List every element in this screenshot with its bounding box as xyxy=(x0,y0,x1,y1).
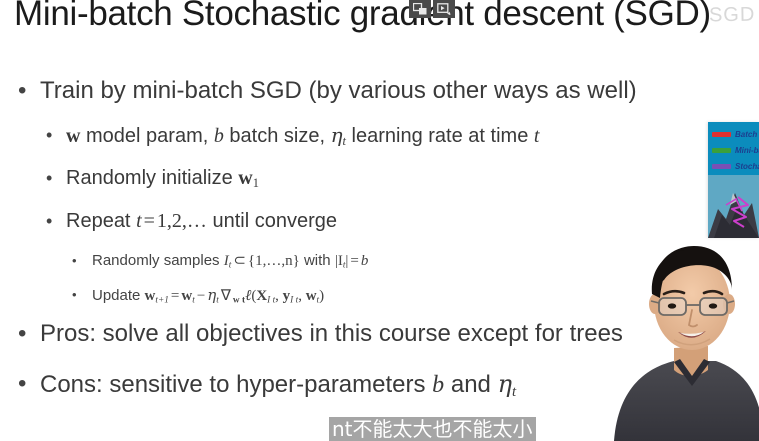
math-eta: η xyxy=(207,286,216,304)
math-paren-close: ) xyxy=(319,288,324,304)
math-sequence: 1,2,… xyxy=(157,210,207,232)
bullet-math-content: Randomly samples It⊂{1,…,n} with |It|=b xyxy=(92,252,368,269)
math-text: Randomly initialize xyxy=(66,167,238,189)
math-sub-I-t: I t xyxy=(267,295,275,305)
math-text: Update xyxy=(92,287,145,304)
math-sub-t: t xyxy=(512,384,516,400)
bullet-math-content: Randomly initialize w1 xyxy=(66,167,259,189)
legend-swatch-stochastic xyxy=(712,164,731,169)
gradient-descent-comparison-figure: Batch Mini-batch Stochastic xyxy=(708,122,759,238)
math-w: w xyxy=(66,125,80,147)
bullet-math-content: Update wt+1=wt−ηt∇w tℓ(XI t, yI t, wt) xyxy=(92,287,324,304)
math-sub-I-t: I t xyxy=(290,295,298,305)
player-overlay-toolbar[interactable] xyxy=(409,0,455,18)
legend-swatch-mini-batch xyxy=(712,148,731,153)
math-w: w xyxy=(145,288,156,304)
math-text: model param, xyxy=(80,125,213,147)
presenter-webcam xyxy=(612,228,759,441)
legend-swatch-batch xyxy=(712,132,731,137)
bullet-symbol-definitions: • w model param, b batch size, ηt learni… xyxy=(0,118,740,161)
math-w: w xyxy=(306,288,317,304)
math-equals: = xyxy=(169,288,181,304)
cast-video-icon[interactable] xyxy=(433,0,455,18)
bullet-dot: • xyxy=(46,161,52,195)
legend-label-mini-batch: Mini-batch xyxy=(735,146,759,155)
math-t: t xyxy=(136,210,142,232)
math-sub-w-t: w t xyxy=(233,295,245,305)
bullet-randomly-initialize: • Randomly initialize w1 xyxy=(0,161,740,204)
math-minus: − xyxy=(195,288,207,304)
math-text: learning rate at time xyxy=(346,125,534,147)
figure-legend: Batch Mini-batch Stochastic xyxy=(708,122,759,176)
math-t: t xyxy=(534,125,540,147)
math-text: batch size, xyxy=(224,125,331,147)
math-text: Randomly samples xyxy=(92,252,224,269)
legend-item: Batch xyxy=(712,128,759,141)
math-nabla: ∇ xyxy=(219,288,233,304)
ghost-watermark-text: SGD xyxy=(708,4,755,28)
math-equals: = xyxy=(142,210,157,232)
math-sub-1: 1 xyxy=(253,176,259,190)
math-subset: ⊂ xyxy=(231,253,248,269)
math-text: until converge xyxy=(207,210,337,232)
slide-title: Mini-batch Stochastic gradient descent (… xyxy=(14,0,711,34)
legend-item: Mini-batch xyxy=(712,144,759,157)
math-text: Repeat xyxy=(66,210,136,232)
legend-label-stochastic: Stochastic xyxy=(735,162,759,171)
bullet-math-content: Repeat t=1,2,… until converge xyxy=(66,210,337,232)
math-set: {1,…,n} xyxy=(248,253,300,269)
math-eta: η xyxy=(498,370,512,398)
math-equals: = xyxy=(348,253,360,269)
bullet-dot: • xyxy=(72,247,77,275)
subtitle-caption: nt不能太大也不能太小 xyxy=(329,417,536,441)
math-b: b xyxy=(432,372,444,398)
math-b: b xyxy=(361,253,369,269)
math-eta: η xyxy=(331,123,343,147)
bullet-math-content: Cons: sensitive to hyper-parameters b an… xyxy=(40,371,516,398)
bullet-dot: • xyxy=(72,281,77,309)
legend-item: Stochastic xyxy=(712,160,759,173)
bullet-text: Pros: solve all objectives in this cours… xyxy=(40,320,623,347)
slide-screen: SGD Mini-batch Stochastic gradient desce… xyxy=(0,0,759,441)
bullet-dot: • xyxy=(46,204,52,238)
bullet-train-by-minibatch-sgd: • Train by mini-batch SGD (by various ot… xyxy=(0,72,740,118)
math-comma: , xyxy=(298,288,306,304)
bullet-dot: • xyxy=(46,118,52,152)
bullet-dot: • xyxy=(18,365,26,403)
math-w: w xyxy=(181,288,192,304)
math-text: with xyxy=(300,252,335,269)
bullet-dot: • xyxy=(18,315,26,353)
picture-in-picture-icon[interactable] xyxy=(409,0,431,18)
math-b: b xyxy=(214,125,224,147)
math-comma: , xyxy=(275,288,283,304)
bullet-dot: • xyxy=(18,72,26,110)
bullet-math-content: w model param, b batch size, ηt learning… xyxy=(66,125,539,147)
legend-label-batch: Batch xyxy=(735,130,757,139)
math-X: X xyxy=(256,288,267,304)
math-w: w xyxy=(238,167,252,189)
math-sub-t-plus-1: t+1 xyxy=(155,295,169,305)
math-abs-open: |I xyxy=(335,253,343,269)
bullet-text: Train by mini-batch SGD (by various othe… xyxy=(40,77,637,104)
math-text: Cons: sensitive to hyper-parameters xyxy=(40,371,432,398)
math-text: and xyxy=(444,371,497,398)
